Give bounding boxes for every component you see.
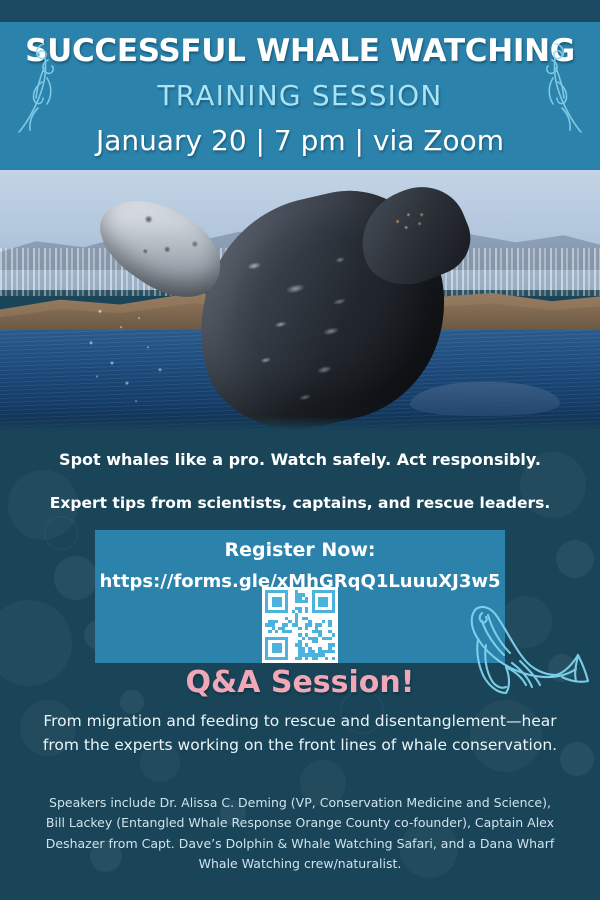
top-accent-strip: [0, 0, 600, 22]
poster: SUCCESSFUL WHALE WATCHING TRAINING SESSI…: [0, 0, 600, 900]
tagline-secondary: Expert tips from scientists, captains, a…: [0, 468, 600, 512]
header-band: SUCCESSFUL WHALE WATCHING TRAINING SESSI…: [0, 22, 600, 170]
register-box[interactable]: Register Now: https://forms.gle/xMhGRqQ1…: [95, 530, 505, 663]
page-title: SUCCESSFUL WHALE WATCHING: [0, 22, 600, 67]
page-subtitle: TRAINING SESSION: [0, 67, 600, 110]
whale-wake: [410, 382, 560, 416]
whale-photo: [0, 170, 600, 432]
speaker-line-2: Bill Lackey (Entangled Whale Response Or…: [0, 813, 600, 833]
taglines: Spot whales like a pro. Watch safely. Ac…: [0, 432, 600, 512]
register-label: Register Now:: [95, 530, 505, 560]
swirl-flourish-icon: [14, 38, 68, 138]
water-splash: [70, 298, 220, 410]
qa-description-line-2: from the experts working on the front li…: [0, 732, 600, 756]
speakers-list: Speakers include Dr. Alissa C. Deming (V…: [0, 793, 600, 874]
photo-fade: [0, 416, 600, 432]
event-datetime: January 20 | 7 pm | via Zoom: [0, 110, 600, 155]
qr-code-grid: [265, 590, 335, 660]
tagline-primary: Spot whales like a pro. Watch safely. Ac…: [0, 432, 600, 468]
swirl-flourish-icon: [532, 38, 586, 138]
speaker-line-1: Speakers include Dr. Alissa C. Deming (V…: [0, 793, 600, 813]
whale-line-art-icon: [452, 585, 592, 705]
speaker-line-4: Whale Watching crew/naturalist.: [0, 854, 600, 874]
qr-code[interactable]: [262, 587, 338, 663]
speaker-line-3: Deshazer from Capt. Dave’s Dolphin & Wha…: [0, 834, 600, 854]
